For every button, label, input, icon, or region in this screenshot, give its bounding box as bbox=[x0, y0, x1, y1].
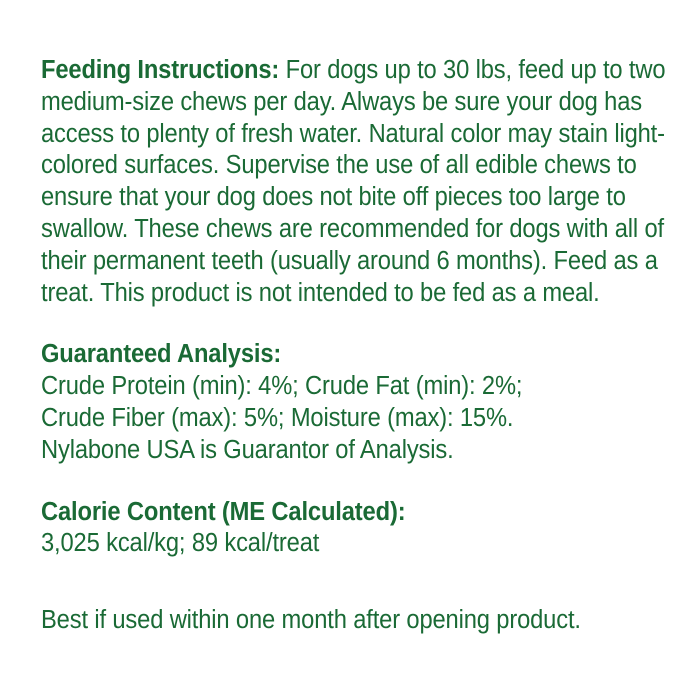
feeding-instructions-heading: Feeding Instructions: bbox=[41, 56, 279, 84]
calorie-content-heading: Calorie Content (ME Calculated): bbox=[41, 497, 666, 529]
best-if-used-text: Best if used within one month after open… bbox=[41, 605, 666, 637]
label-text-block: Feeding Instructions: For dogs up to 30 … bbox=[41, 55, 666, 637]
guaranteed-analysis-line: Crude Protein (min): 4%; Crude Fat (min)… bbox=[41, 371, 666, 403]
guaranteed-analysis-section: Guaranteed Analysis: Crude Protein (min)… bbox=[41, 339, 666, 466]
feeding-instructions-body: For dogs up to 30 lbs, feed up to two me… bbox=[41, 56, 665, 307]
best-if-used-section: Best if used within one month after open… bbox=[41, 605, 666, 637]
calorie-content-section: Calorie Content (ME Calculated): 3,025 k… bbox=[41, 497, 666, 561]
guaranteed-analysis-heading: Guaranteed Analysis: bbox=[41, 339, 666, 371]
feeding-instructions-paragraph: Feeding Instructions: For dogs up to 30 … bbox=[41, 55, 666, 309]
calorie-content-value-line: 3,025 kcal/kg; 89 kcal/treat bbox=[41, 528, 666, 560]
guaranteed-analysis-line: Crude Fiber (max): 5%; Moisture (max): 1… bbox=[41, 403, 666, 435]
guaranteed-analysis-guarantor-line: Nylabone USA is Guarantor of Analysis. bbox=[41, 435, 666, 467]
pet-food-label-panel: Feeding Instructions: For dogs up to 30 … bbox=[0, 0, 700, 700]
